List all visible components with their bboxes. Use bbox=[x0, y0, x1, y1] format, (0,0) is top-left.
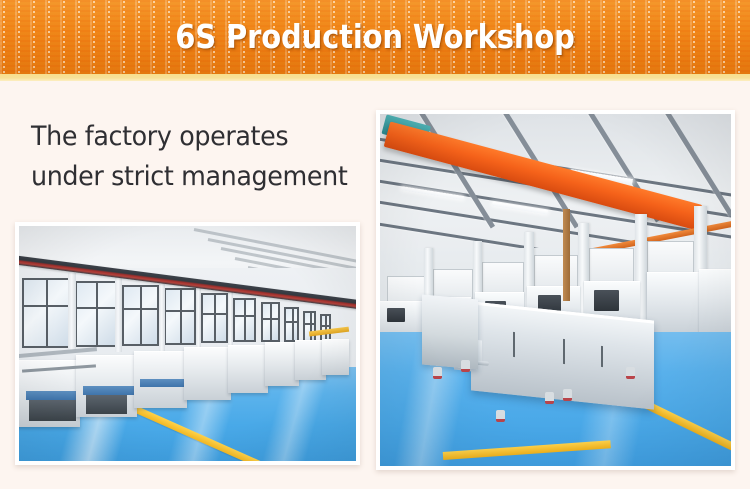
machine-caster bbox=[545, 392, 554, 404]
production-machine bbox=[265, 342, 299, 385]
factory-window bbox=[164, 288, 196, 344]
vertical-post bbox=[563, 209, 570, 301]
wall-pillar bbox=[159, 280, 165, 351]
subtitle-block: The factory operates under strict manage… bbox=[31, 117, 351, 197]
machine-seam bbox=[601, 346, 603, 367]
factory-window bbox=[201, 293, 228, 344]
packaging-machine bbox=[699, 269, 731, 337]
production-machine bbox=[322, 339, 349, 375]
machine-base bbox=[86, 395, 126, 414]
production-machine bbox=[184, 347, 231, 400]
machine-caster bbox=[563, 389, 572, 401]
wall-pillar bbox=[196, 285, 201, 348]
production-machine bbox=[295, 340, 325, 380]
secondary-machine bbox=[422, 295, 478, 370]
production-machine bbox=[228, 345, 268, 393]
machine-caster bbox=[461, 360, 470, 372]
packaging-machine bbox=[647, 272, 707, 336]
machine-seam bbox=[563, 339, 565, 364]
factory-window bbox=[284, 307, 300, 342]
subtitle-line-2: under strict management bbox=[31, 157, 351, 197]
factory-photo-right-image bbox=[380, 114, 731, 466]
machine-frame bbox=[26, 391, 83, 400]
factory-photo-left bbox=[15, 222, 360, 465]
machine-base bbox=[29, 400, 76, 421]
factory-window bbox=[261, 302, 280, 342]
header-underline bbox=[0, 74, 750, 81]
factory-window bbox=[22, 278, 69, 349]
machine-control-panel bbox=[387, 308, 405, 322]
machine-caster bbox=[626, 367, 635, 379]
factory-window bbox=[303, 311, 316, 343]
factory-window bbox=[122, 285, 159, 346]
page-title: 6S Production Workshop bbox=[45, 0, 705, 74]
factory-photo-right bbox=[376, 110, 735, 470]
machine-control-panel bbox=[594, 290, 619, 311]
factory-photo-left-image bbox=[19, 226, 356, 461]
wall-pillar bbox=[115, 277, 122, 352]
factory-window bbox=[75, 281, 117, 347]
subtitle-line-1: The factory operates bbox=[31, 117, 351, 157]
factory-window bbox=[233, 298, 256, 343]
wall-pillar bbox=[228, 291, 233, 347]
machine-caster bbox=[433, 367, 442, 379]
machine-frame bbox=[140, 379, 184, 387]
machine-caster bbox=[496, 410, 505, 422]
machine-frame bbox=[83, 386, 134, 395]
promo-banner: 6S Production Workshop The factory opera… bbox=[0, 0, 750, 489]
wall-pillar bbox=[68, 273, 75, 353]
